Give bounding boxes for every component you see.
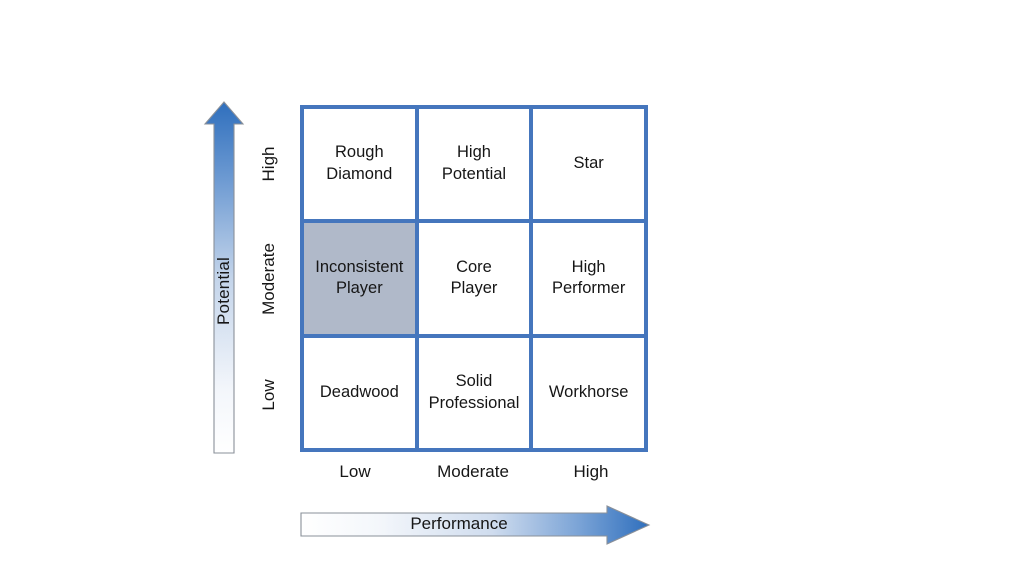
grid-cell-core-player[interactable]: Core Player [419,223,530,333]
grid-cell-deadwood[interactable]: Deadwood [304,338,415,448]
grid-cell-workhorse[interactable]: Workhorse [533,338,644,448]
grid-cell-label: High Performer [552,257,625,301]
grid-cell-label: Rough Diamond [326,142,392,186]
x-axis-tick-high: High [534,461,648,483]
grid-cell-label: Workhorse [549,382,628,404]
grid-cell-star[interactable]: Star [533,109,644,219]
grid-cell-inconsistent-player[interactable]: Inconsistent Player [304,223,415,333]
x-axis-tick-low: Low [300,461,410,483]
grid-cell-high-potential[interactable]: High Potential [419,109,530,219]
y-axis-tick-high: High [256,116,282,212]
y-axis-tick-moderate: Moderate [256,231,282,327]
nine-box-grid: Rough Diamond High Potential Star Incons… [300,105,648,452]
grid-cell-label: Inconsistent Player [315,257,403,301]
performance-axis-arrow [299,504,651,546]
grid-cell-solid-professional[interactable]: Solid Professional [419,338,530,448]
grid-cell-label: Core Player [451,257,498,301]
x-axis-tick-moderate: Moderate [414,461,532,483]
up-arrow-gradient-icon [203,100,245,455]
grid-cell-rough-diamond[interactable]: Rough Diamond [304,109,415,219]
grid-cell-label: High Potential [442,142,506,186]
grid-cell-label: Deadwood [320,382,399,404]
grid-cell-high-performer[interactable]: High Performer [533,223,644,333]
grid-cell-label: Star [574,153,604,175]
potential-axis-arrow [203,100,245,455]
y-axis-tick-low: Low [256,347,282,443]
grid-cell-label: Solid Professional [429,371,520,415]
right-arrow-gradient-icon [299,504,651,546]
